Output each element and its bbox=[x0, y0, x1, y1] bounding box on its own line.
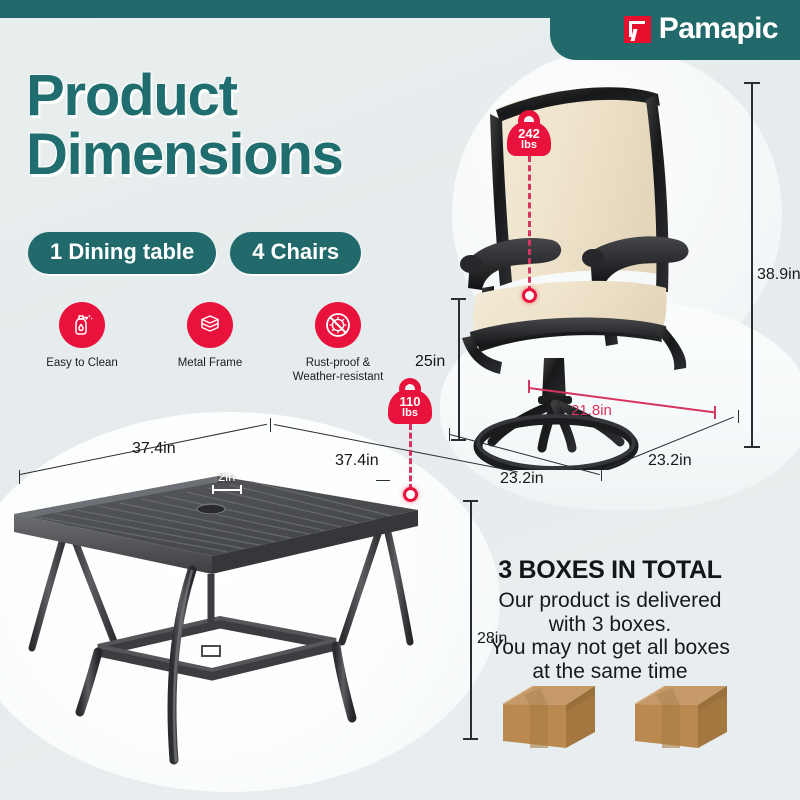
metal-sheets-icon bbox=[197, 312, 223, 338]
title-line-2: Dimensions bbox=[26, 125, 343, 184]
table-weight-leader-line bbox=[409, 424, 412, 490]
feature-label: Metal Frame bbox=[146, 356, 274, 370]
chair-base-diameter-label: 21.8in bbox=[571, 402, 612, 419]
chair-base-tick-right bbox=[714, 406, 716, 419]
table-weight-capacity-badge: 110 lbs bbox=[388, 390, 432, 424]
feature-easy-to-clean: Easy to Clean bbox=[18, 302, 146, 385]
table-umbrella-hole-label: 2in bbox=[218, 469, 235, 484]
chair-seat-tick-top bbox=[451, 298, 466, 300]
shipping-box bbox=[500, 678, 598, 756]
table-height-line bbox=[470, 500, 472, 740]
chair-weight-target-dot bbox=[522, 288, 537, 303]
title-line-1: Product bbox=[26, 66, 343, 125]
chair-height-tick-top bbox=[744, 82, 760, 84]
table-depth-tick-right bbox=[376, 480, 390, 481]
shipping-title: 3 BOXES IN TOTAL bbox=[434, 556, 786, 585]
feature-list: Easy to Clean Metal Frame bbox=[18, 302, 402, 385]
pill-chairs: 4 Chairs bbox=[230, 232, 361, 274]
chair-height-line bbox=[751, 82, 753, 448]
shipping-info: 3 BOXES IN TOTAL Our product is delivere… bbox=[434, 556, 786, 684]
feature-badge bbox=[59, 302, 105, 348]
spray-bottle-icon bbox=[69, 312, 95, 338]
chair-weight-unit: lbs bbox=[521, 140, 537, 151]
infographic-canvas: Pamapic Product Dimensions 1 Dining tabl… bbox=[0, 0, 800, 800]
item-count-pills: 1 Dining table 4 Chairs bbox=[28, 232, 361, 274]
table-height-tick-top bbox=[463, 500, 478, 502]
chair-height-tick-bottom bbox=[744, 446, 760, 448]
pill-dining-table: 1 Dining table bbox=[28, 232, 216, 274]
chair-footprint-right-label: 23.2in bbox=[648, 452, 692, 470]
chair-footprint-left-tick-b bbox=[601, 468, 602, 481]
brand-logo: Pamapic bbox=[624, 12, 778, 46]
weight-body: 110 lbs bbox=[388, 390, 432, 424]
shipping-box bbox=[632, 678, 730, 756]
chair-weight-capacity-badge: 242 lbs bbox=[507, 122, 551, 156]
rust-proof-icon bbox=[324, 311, 352, 339]
chair-base-tick-left bbox=[528, 380, 530, 393]
brand-name: Pamapic bbox=[659, 12, 778, 46]
weight-body: 242 lbs bbox=[507, 122, 551, 156]
table-height-label: 28in bbox=[477, 630, 507, 648]
table-depth-label: 37.4in bbox=[335, 452, 379, 470]
chair-footprint-left-tick-a bbox=[449, 428, 450, 441]
chair-footprint-left-label: 23.2in bbox=[500, 470, 544, 488]
table-weight-target-dot bbox=[403, 487, 418, 502]
table-weight-unit: lbs bbox=[402, 408, 418, 419]
chair-seat-height-label: 25in bbox=[415, 353, 445, 371]
feature-label: Easy to Clean bbox=[18, 356, 146, 370]
table-umbrella-hole-line bbox=[212, 489, 242, 491]
feature-rust-proof: Rust-proof &Weather-resistant bbox=[274, 302, 402, 385]
table-umbrella-tick-left bbox=[212, 485, 214, 494]
table-height-tick-bottom bbox=[463, 738, 478, 740]
page-title: Product Dimensions bbox=[26, 66, 343, 184]
shipping-boxes bbox=[500, 678, 730, 756]
table-width-label: 37.4in bbox=[132, 440, 176, 458]
table-umbrella-tick-right bbox=[240, 485, 242, 494]
chair-footprint-right-tick-a bbox=[738, 410, 739, 423]
table-width-tick-left bbox=[19, 470, 20, 484]
pamapic-r-mark-icon bbox=[624, 16, 651, 43]
table-illustration bbox=[6, 470, 426, 780]
chair-weight-leader-line bbox=[528, 156, 531, 292]
shipping-line-1: Our product is delivered bbox=[434, 589, 786, 613]
table-width-tick-right bbox=[270, 418, 271, 432]
chair-seat-height-line bbox=[458, 298, 460, 440]
cardboard-box-icon bbox=[500, 678, 598, 756]
feature-badge bbox=[187, 302, 233, 348]
feature-label: Rust-proof &Weather-resistant bbox=[274, 356, 402, 385]
feature-badge bbox=[315, 302, 361, 348]
chair-height-label: 38.9in bbox=[757, 266, 800, 284]
feature-metal-frame: Metal Frame bbox=[146, 302, 274, 385]
cardboard-box-icon bbox=[632, 678, 730, 756]
